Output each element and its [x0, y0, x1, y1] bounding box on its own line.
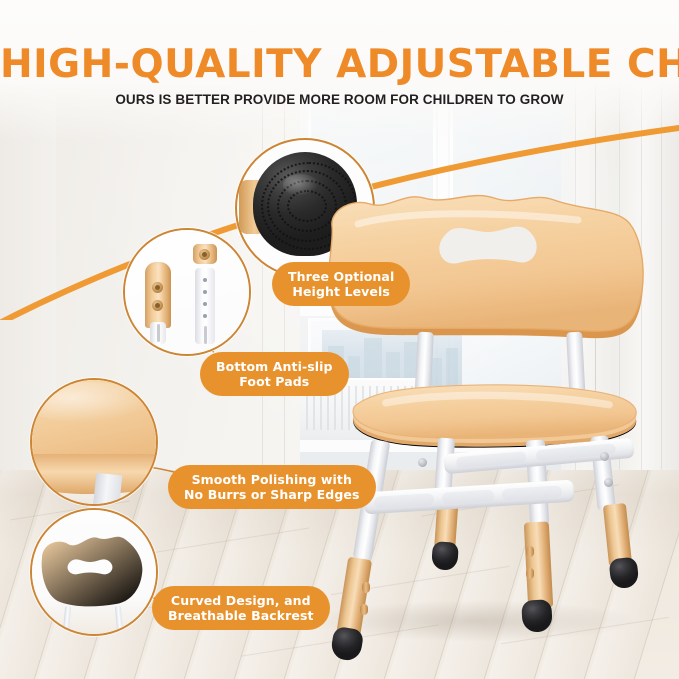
badge-line-1: Three Optional [288, 269, 394, 284]
page-title: HIGH-QUALITY ADJUSTABLE CHAIR [0, 44, 679, 86]
badge-line-2: No Burrs or Sharp Edges [184, 487, 360, 502]
leg-nub-fr-2 [526, 568, 534, 579]
badge-line-2: Height Levels [288, 284, 394, 299]
badge-three-optional-height-levels[interactable]: Three Optional Height Levels [272, 262, 410, 306]
badge-line-2: Breathable Backrest [168, 608, 314, 623]
badge-line-1: Smooth Polishing with [184, 472, 360, 487]
detail-circle-curved-backrest [30, 508, 158, 636]
adjust-screw-right [600, 452, 609, 461]
leg-cap-screw [199, 249, 210, 260]
badge-curved-design-breathable-backrest[interactable]: Curved Design, and Breathable Backrest [152, 586, 330, 630]
badge-line-1: Curved Design, and [168, 593, 314, 608]
leg-sleeve-tan [145, 262, 171, 328]
chair-foot-front-right [521, 599, 553, 633]
badge-smooth-polishing[interactable]: Smooth Polishing with No Burrs or Sharp … [168, 465, 376, 509]
seat-edge-leg [92, 473, 123, 506]
chair-foot-front-left [330, 626, 365, 662]
product-infographic: HIGH-QUALITY ADJUSTABLE CHAIR OURS IS BE… [0, 0, 679, 679]
badge-line-1: Bottom Anti-slip [216, 359, 333, 374]
leg-nub-fl-2 [360, 604, 368, 615]
chair-foot-back-left [431, 541, 459, 571]
detail-circle-polished-edge [30, 378, 158, 506]
product-chair [318, 190, 664, 660]
backrest-shape-icon [32, 510, 156, 634]
leg-nub-fr-1 [526, 546, 534, 557]
leg-screw-upper [152, 282, 163, 293]
badge-bottom-anti-slip-foot-pads[interactable]: Bottom Anti-slip Foot Pads [200, 352, 349, 396]
chair-foot-back-right [609, 557, 640, 590]
leg-screw-lower [152, 300, 163, 311]
adjust-screw-left [418, 458, 427, 467]
leg-nub-fl-1 [362, 582, 370, 593]
page-subtitle: OURS IS BETTER PROVIDE MORE ROOM FOR CHI… [0, 92, 679, 108]
badge-line-2: Foot Pads [216, 374, 333, 389]
detail-circle-adjustable-leg [123, 228, 251, 356]
adjust-screw-right-2 [604, 478, 613, 487]
chair-leg-front-right-lower [524, 521, 553, 608]
